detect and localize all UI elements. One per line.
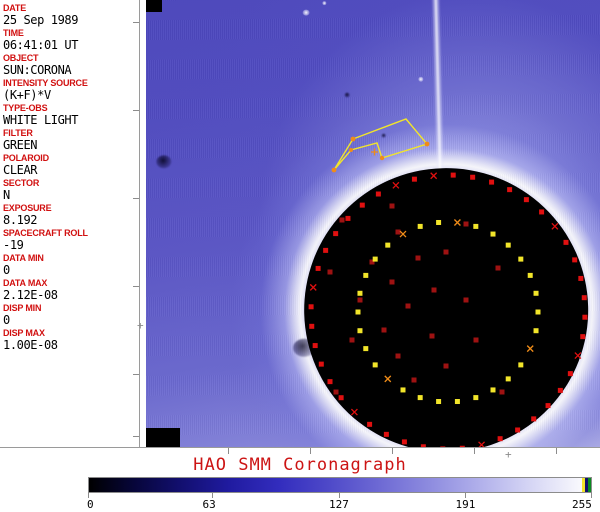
bright-speck [322,1,326,5]
metadata-value: 25 Sep 1989 [3,13,139,27]
metadata-label: DISP MAX [3,328,139,338]
field-artifact [345,93,350,98]
colorbar-tick-label: 191 [455,499,475,510]
axis-tick-left [133,22,139,23]
metadata-label: DATE [3,3,139,13]
metadata-label: SPACECRAFT ROLL [3,228,139,238]
axis-plus-marker: + [137,320,144,331]
metadata-field: SPACECRAFT ROLL-19 [3,228,139,252]
metadata-field: DISP MAX1.00E-08 [3,328,139,352]
axis-tick-left [133,436,139,437]
metadata-label: OBJECT [3,53,139,63]
metadata-field: DATA MIN0 [3,253,139,277]
metadata-value: (K+F)*V [3,88,139,102]
corona-field [146,0,600,447]
metadata-field: DATE25 Sep 1989 [3,3,139,27]
metadata-panel: DATE25 Sep 1989TIME06:41:01 UTOBJECTSUN:… [0,0,139,447]
metadata-value: -19 [3,238,139,252]
metadata-value: GREEN [3,138,139,152]
metadata-label: SECTOR [3,178,139,188]
metadata-value: 0 [3,313,139,327]
axis-tick-left [133,198,139,199]
axis-tick-bottom [556,448,557,454]
metadata-field: DATA MAX2.12E-08 [3,278,139,302]
axis-tick-bottom [392,448,393,454]
panel-divider [139,0,140,447]
colorbar-end-band [588,478,591,492]
metadata-field: TIME06:41:01 UT [3,28,139,52]
metadata-value: CLEAR [3,163,139,177]
colorbar[interactable] [88,477,592,493]
metadata-value: 8.192 [3,213,139,227]
metadata-field: INTENSITY SOURCE(K+F)*V [3,78,139,102]
metadata-value: 1.00E-08 [3,338,139,352]
colorbar-tick-label: 255 [572,499,592,510]
metadata-label: TIME [3,28,139,38]
frame-corner-mask [146,0,162,12]
axis-tick-left [133,374,139,375]
metadata-label: TYPE-OBS [3,103,139,113]
occulting-disk [301,165,592,447]
colorbar-gradient [88,477,592,493]
axis-tick-bottom [228,448,229,454]
metadata-value: 0 [3,263,139,277]
colorbar-tick-label: 127 [329,499,349,510]
metadata-label: POLAROID [3,153,139,163]
metadata-label: INTENSITY SOURCE [3,78,139,88]
axis-tick-bottom [310,448,311,454]
coronagraph-viewer: DATE25 Sep 1989TIME06:41:01 UTOBJECTSUN:… [0,0,600,512]
metadata-value: SUN:CORONA [3,63,139,77]
metadata-label: DISP MIN [3,303,139,313]
metadata-value: 2.12E-08 [3,288,139,302]
metadata-field: POLAROIDCLEAR [3,153,139,177]
metadata-field: DISP MIN0 [3,303,139,327]
metadata-field: OBJECTSUN:CORONA [3,53,139,77]
metadata-value: WHITE LIGHT [3,113,139,127]
axis-plus-marker: + [505,449,512,460]
metadata-label: FILTER [3,128,139,138]
colorbar-tick-label: 0 [87,499,94,510]
field-artifact [156,155,171,168]
bright-speck [418,77,423,82]
metadata-label: EXPOSURE [3,203,139,213]
frame-corner-mask [146,428,180,447]
metadata-value: 06:41:01 UT [3,38,139,52]
metadata-field: SECTORN [3,178,139,202]
coronagraph-image[interactable] [146,0,600,447]
field-artifact [382,134,386,138]
bright-speck [303,10,310,16]
colorbar-tick-label: 63 [202,499,215,510]
metadata-field: TYPE-OBSWHITE LIGHT [3,103,139,127]
metadata-label: DATA MIN [3,253,139,263]
axis-tick-left [133,110,139,111]
metadata-field: EXPOSURE8.192 [3,203,139,227]
metadata-field: FILTERGREEN [3,128,139,152]
axis-tick-left [133,286,139,287]
metadata-label: DATA MAX [3,278,139,288]
metadata-value: N [3,188,139,202]
axis-tick-bottom [474,448,475,454]
